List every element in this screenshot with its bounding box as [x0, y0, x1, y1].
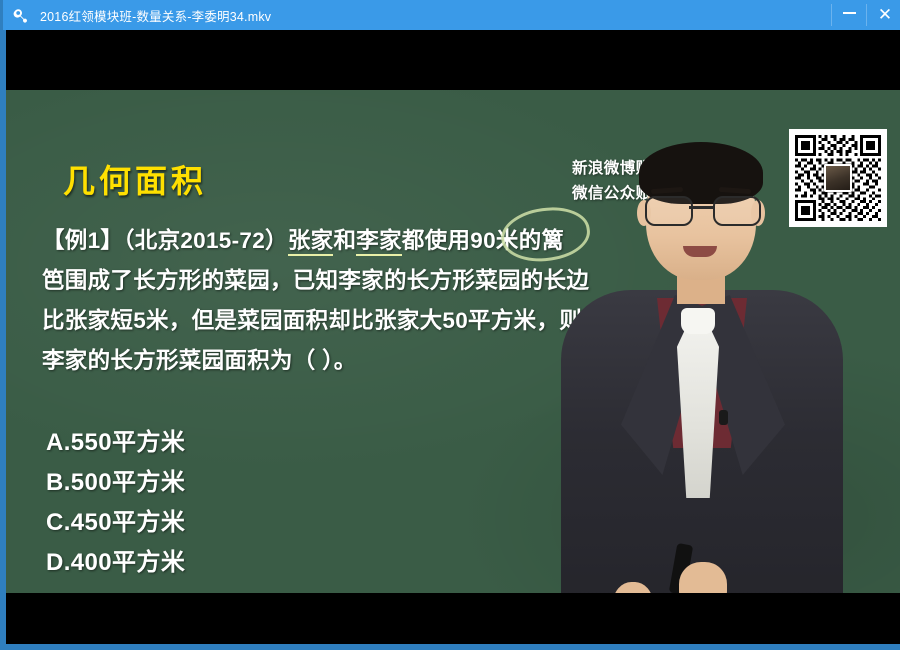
glasses-lens-left: [645, 196, 693, 226]
glasses-bridge: [689, 206, 713, 209]
slide-heading: 几何面积: [63, 156, 207, 202]
option-c: C.450平方米: [46, 503, 185, 543]
title-bar: 2016红领模块班-数量关系-李委明34.mkv ✕: [3, 0, 900, 30]
close-button[interactable]: ✕: [867, 0, 900, 30]
answer-options: A.550平方米 B.500平方米 C.450平方米 D.400平方米: [46, 423, 185, 583]
instructor-hair: [639, 142, 763, 204]
letterbox-top: [6, 30, 900, 90]
player-logo-icon: [8, 2, 34, 28]
chalkboard-slide: 几何面积 新浪微博账号：李委明 微信公众账号：李委明: [6, 90, 900, 593]
clip-microphone-icon: [719, 410, 728, 425]
question-line-1-part-c: 都使用90米的篱: [402, 228, 564, 253]
window-title: 2016红领模块班-数量关系-李委明34.mkv: [40, 6, 831, 25]
glasses-icon: [643, 196, 761, 222]
instructor-figure: [551, 130, 851, 593]
underline-lijia: 李家: [356, 228, 402, 256]
minimize-button[interactable]: [832, 0, 866, 30]
question-line-1-part-a: 【例1】（北京2015-72）: [42, 228, 288, 253]
video-surface[interactable]: 几何面积 新浪微博账号：李委明 微信公众账号：李委明: [6, 30, 900, 644]
instructor-tie-knot: [681, 308, 715, 334]
question-line-1-part-b: 和: [333, 228, 356, 253]
letterbox-bottom: [6, 593, 900, 644]
underline-zhangjia: 张家: [288, 228, 334, 256]
video-player-window: 2016红领模块班-数量关系-李委明34.mkv ✕ 几何面积 新浪微博账号：李…: [0, 0, 900, 650]
option-d: D.400平方米: [46, 543, 185, 583]
glasses-lens-right: [713, 196, 761, 226]
window-controls: ✕: [831, 0, 900, 30]
option-a: A.550平方米: [46, 423, 185, 463]
option-b: B.500平方米: [46, 463, 185, 503]
